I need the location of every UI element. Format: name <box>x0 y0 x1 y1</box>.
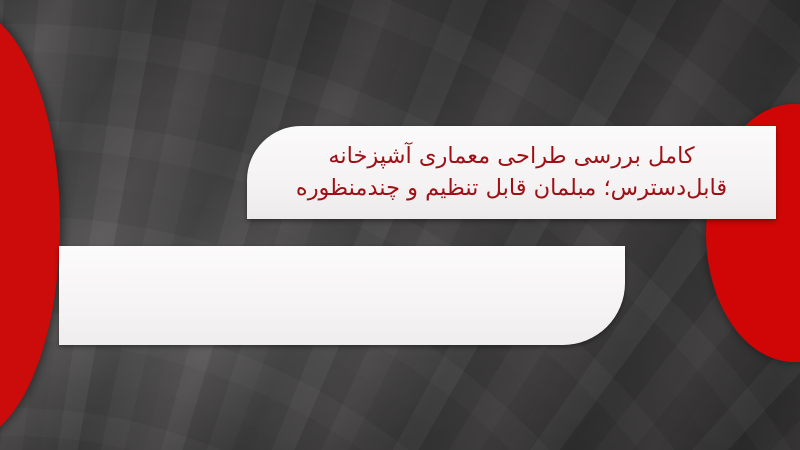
content-panel <box>59 246 625 345</box>
presentation-slide: کامل بررسی طراحی معماری آشپزخانه قابل‌دس… <box>0 0 800 450</box>
slide-title: کامل بررسی طراحی معماری آشپزخانه قابل‌دس… <box>290 141 733 205</box>
background-vignette <box>0 0 800 450</box>
title-panel: کامل بررسی طراحی معماری آشپزخانه قابل‌دس… <box>247 126 776 219</box>
content-placeholder-text <box>59 246 625 345</box>
